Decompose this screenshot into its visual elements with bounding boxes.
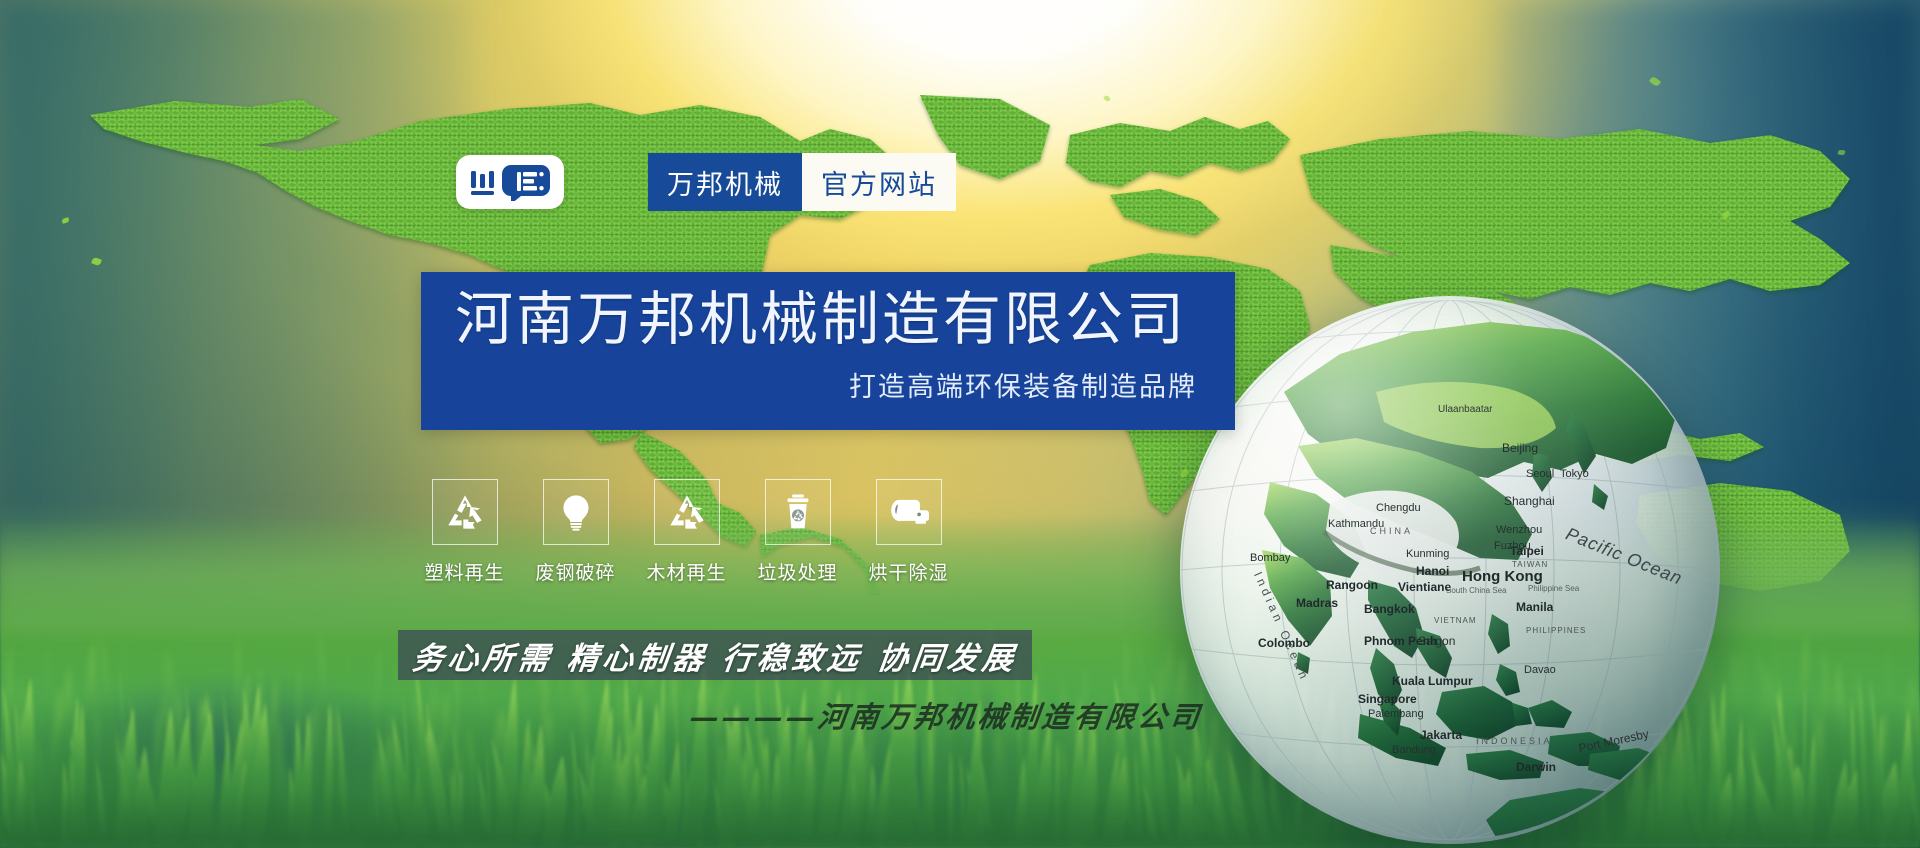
wb-logo-icon: [467, 163, 553, 201]
feature-icon-box: [876, 479, 942, 545]
feature-icon-box: [432, 479, 498, 545]
feature-label: 垃圾处理: [757, 558, 837, 585]
hero-banner: Pacific Ocean Indian Ocean CHINA Hong Ko…: [0, 0, 1920, 848]
feature-icon-box: [765, 479, 831, 545]
feature-label: 烘干除湿: [868, 558, 948, 585]
lightbulb-icon: [556, 492, 596, 532]
feature-item-plastic-recycling[interactable]: 塑料再生: [421, 479, 508, 585]
tab-official-site[interactable]: 官方网站: [802, 153, 956, 211]
feature-item-scrap-steel-crushing[interactable]: 废钢破碎: [532, 479, 619, 585]
slogan-attribution: ————河南万邦机械制造有限公司: [687, 694, 1204, 736]
header-tabs: 万邦机械 官方网站: [648, 153, 956, 211]
recycle-icon: [667, 492, 707, 532]
dryer-machine-icon: [888, 492, 930, 532]
tab-wanbang-jixie[interactable]: 万邦机械: [648, 153, 802, 211]
site-header: 万邦机械 官方网站: [456, 152, 956, 212]
feature-item-waste-treatment[interactable]: 垃圾处理: [754, 479, 841, 585]
trash-bin-icon: [778, 492, 818, 532]
feature-item-wood-recycling[interactable]: 木材再生: [643, 479, 730, 585]
feature-icon-box: [543, 479, 609, 545]
company-title: 河南万邦机械制造有限公司: [455, 288, 1201, 351]
feature-label: 木材再生: [646, 558, 726, 585]
feature-item-drying-dehumidify[interactable]: 烘干除湿: [865, 479, 952, 585]
feature-label: 塑料再生: [424, 558, 504, 585]
recycle-icon: [445, 492, 485, 532]
globe-graphic: Pacific Ocean Indian Ocean CHINA Hong Ko…: [1180, 296, 1720, 844]
feature-label: 废钢破碎: [535, 558, 615, 585]
slogan-bar: 务心所需 精心制器 行稳致远 协同发展: [398, 630, 1032, 680]
slogan-text: 务心所需 精心制器 行稳致远 协同发展: [410, 633, 1020, 678]
feature-list: 塑料再生 废钢破碎: [421, 479, 952, 585]
feature-icon-box: [654, 479, 720, 545]
wanbang-logo[interactable]: [456, 155, 564, 209]
company-banner: 河南万邦机械制造有限公司 打造高端环保装备制造品牌: [421, 272, 1235, 430]
company-tagline: 打造高端环保装备制造品牌: [455, 365, 1201, 404]
